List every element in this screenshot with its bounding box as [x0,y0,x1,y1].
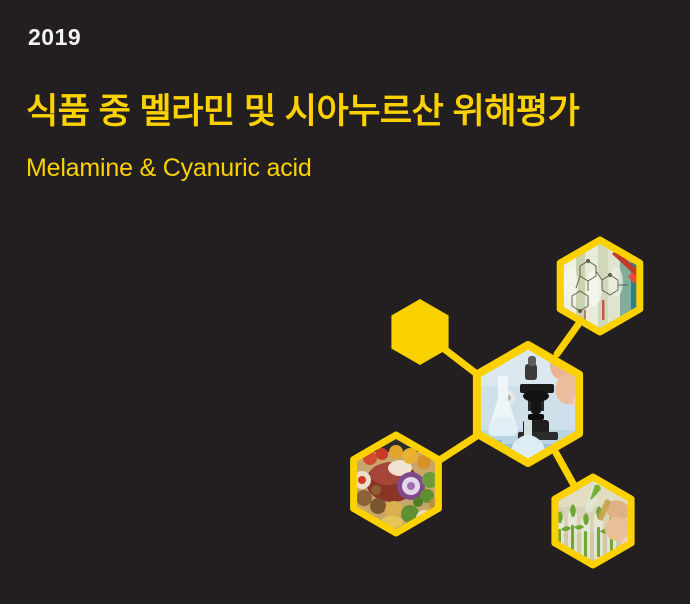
hexagon-molecule-graphic [0,0,690,604]
node-food-hexagon [354,435,439,533]
report-cover: 2019 식품 중 멜라민 및 시아누르산 위해평가 Melamine & Cy… [0,0,690,604]
bond-microscope-to-plants [556,453,575,487]
bond-microscope-to-chemistry [557,322,580,354]
node-plants-hexagon [555,477,631,565]
node-blank-hexagon [391,299,448,365]
node-microscope-hexagon [477,345,579,463]
node-chemistry-hexagon [560,240,640,332]
